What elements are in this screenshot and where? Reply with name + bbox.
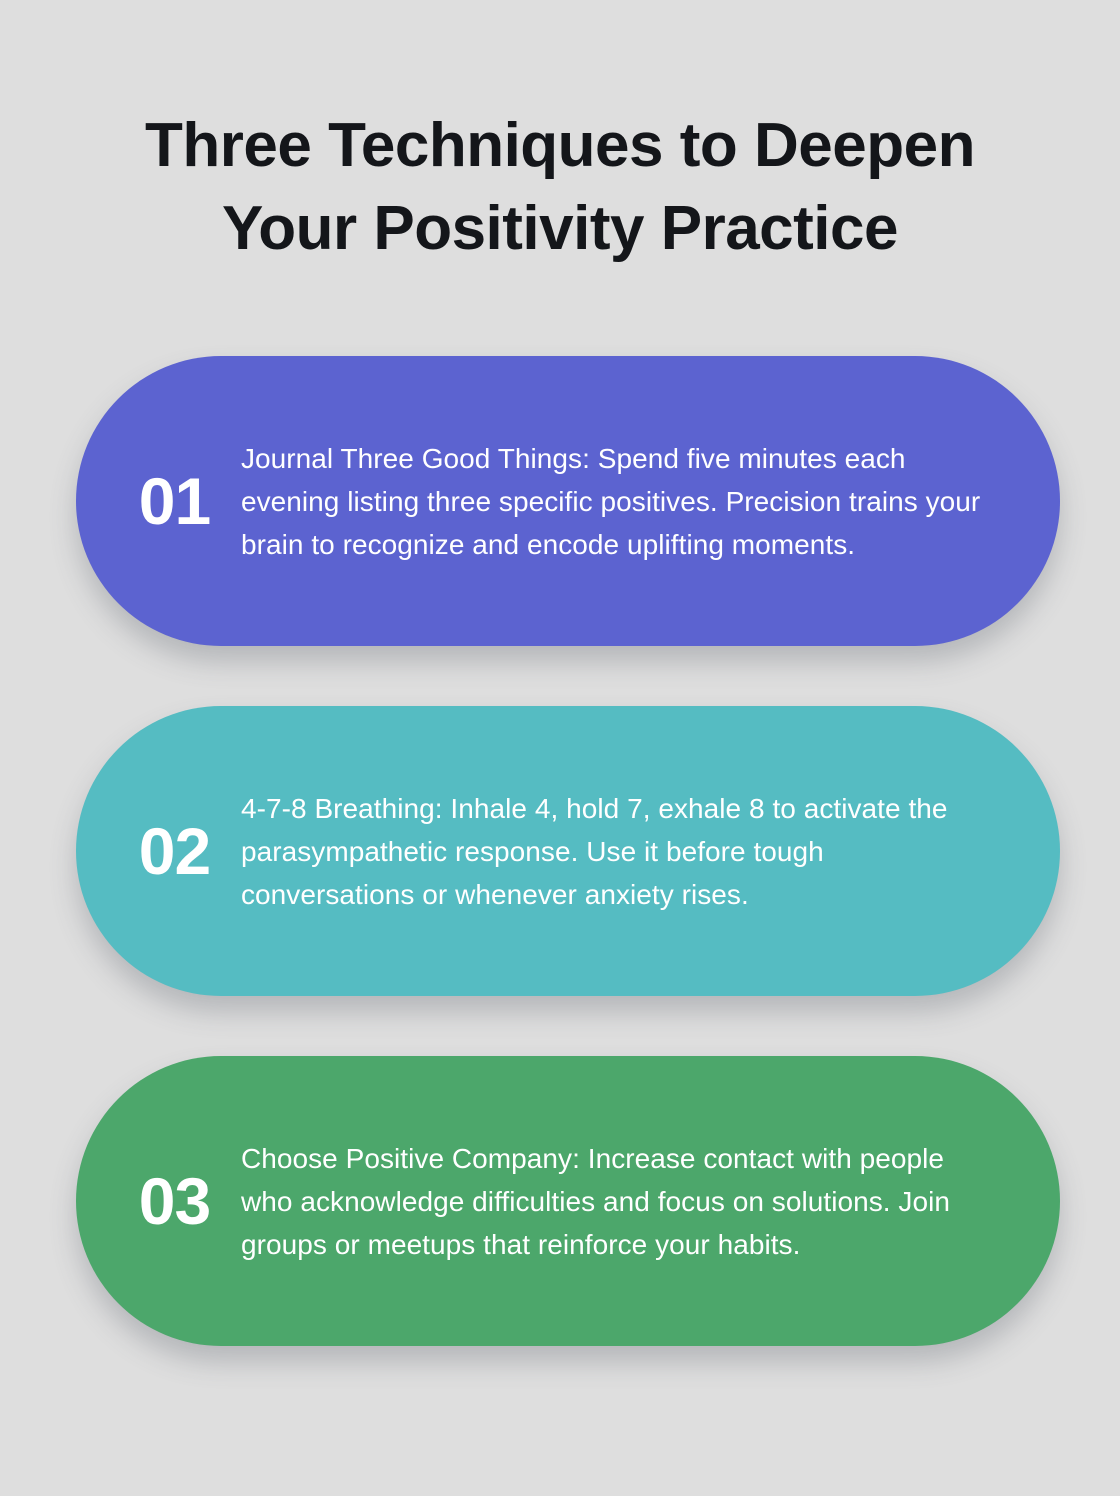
technique-text-03: Choose Positive Company: Increase contac… xyxy=(241,1137,1060,1266)
technique-number-03: 03 xyxy=(76,1168,241,1234)
page-title-line-2: Your Positivity Practice xyxy=(58,187,1062,270)
technique-card-list: 01 Journal Three Good Things: Spend five… xyxy=(0,356,1120,1346)
page-title-line-1: Three Techniques to Deepen xyxy=(58,104,1062,187)
page-title: Three Techniques to Deepen Your Positivi… xyxy=(0,104,1120,270)
technique-number-01: 01 xyxy=(76,468,241,534)
infographic-poster: Three Techniques to Deepen Your Positivi… xyxy=(0,0,1120,1496)
technique-number-02: 02 xyxy=(76,818,241,884)
technique-card-01: 01 Journal Three Good Things: Spend five… xyxy=(76,356,1060,646)
technique-card-03: 03 Choose Positive Company: Increase con… xyxy=(76,1056,1060,1346)
technique-text-02: 4-7-8 Breathing: Inhale 4, hold 7, exhal… xyxy=(241,787,1060,916)
technique-card-02: 02 4-7-8 Breathing: Inhale 4, hold 7, ex… xyxy=(76,706,1060,996)
technique-text-01: Journal Three Good Things: Spend five mi… xyxy=(241,437,1060,566)
